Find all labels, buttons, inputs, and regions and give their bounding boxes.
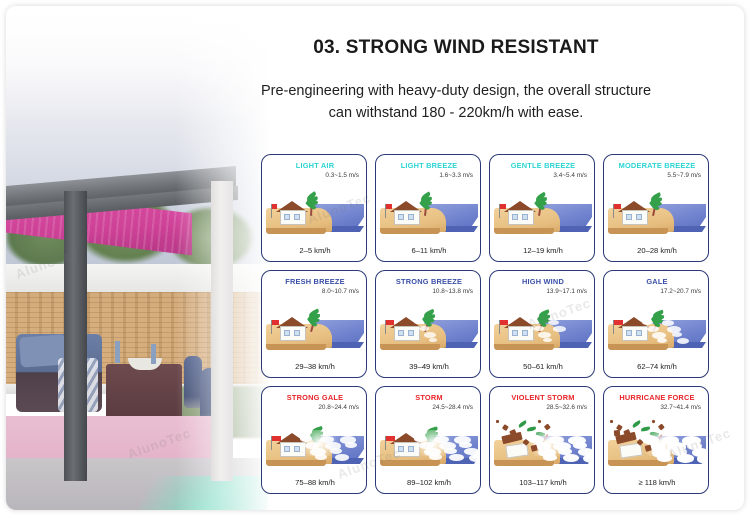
sand-edge xyxy=(380,460,440,466)
flying-debris xyxy=(614,430,621,437)
wind-card-speed-kmh: 75–88 km/h xyxy=(262,478,367,487)
flying-debris xyxy=(631,435,634,438)
wind-card-name: MODERATE BREEZE xyxy=(604,161,709,170)
sand-edge xyxy=(608,344,668,350)
flying-debris xyxy=(610,420,613,423)
wind-card-speed-ms: 3.4~5.4 m/s xyxy=(553,172,587,179)
house-window xyxy=(294,214,300,220)
wind-effect-illustration xyxy=(608,298,706,358)
wind-card-name: VIOLENT STORM xyxy=(490,393,595,402)
page-title: 03. STRONG WIND RESISTANT xyxy=(236,37,676,59)
decor-vase-right xyxy=(151,344,156,364)
pergola-post-dark xyxy=(64,191,87,481)
wind-card-speed-ms: 13.9~17.1 m/s xyxy=(546,288,587,295)
white-wave xyxy=(424,332,436,338)
chimney-smoke xyxy=(397,312,402,320)
wind-card-name: STRONG GALE xyxy=(262,393,367,402)
wind-card: HIGH WIND13.9~17.1 m/s50–61 km/h xyxy=(489,270,595,378)
red-flag xyxy=(500,320,508,325)
wind-card-name: LIGHT BREEZE xyxy=(376,161,481,170)
wind-card: GALE17.2~20.7 m/s62–74 km/h xyxy=(603,270,709,378)
red-flag xyxy=(386,436,395,441)
house-window xyxy=(294,330,300,336)
red-flag xyxy=(386,320,394,325)
flying-leaf xyxy=(632,420,642,428)
red-flag xyxy=(386,204,392,209)
red-flag xyxy=(272,320,279,325)
wind-card-speed-kmh: 12–19 km/h xyxy=(490,246,595,255)
wind-effect-illustration xyxy=(494,298,592,358)
wind-effect-illustration xyxy=(608,182,706,242)
chimney-smoke xyxy=(397,428,402,436)
wind-card-speed-kmh: 6–11 km/h xyxy=(376,246,481,255)
wind-card-speed-ms: 10.8~13.8 m/s xyxy=(432,288,473,295)
chimney-smoke xyxy=(397,196,402,204)
wind-card-speed-kmh: 62–74 km/h xyxy=(604,362,709,371)
wind-card-name: HIGH WIND xyxy=(490,277,595,286)
house-window xyxy=(398,214,404,220)
house-window xyxy=(398,330,404,336)
wind-card-speed-ms: 0.3~1.5 m/s xyxy=(325,172,359,179)
sea-spray xyxy=(638,430,684,456)
sand-edge xyxy=(608,228,668,234)
red-flag xyxy=(272,204,277,209)
white-wave xyxy=(429,338,437,342)
subtitle-line-2: can withstand 180 - 220km/h with ease. xyxy=(156,102,744,124)
wind-card-speed-ms: 20.8~24.4 m/s xyxy=(318,404,359,411)
flying-debris xyxy=(652,420,656,424)
wind-effect-illustration xyxy=(494,414,592,474)
page-subtitle: Pre-engineering with heavy-duty design, … xyxy=(156,80,744,125)
wind-card-speed-ms: 28.5~32.6 m/s xyxy=(546,404,587,411)
chimney-smoke xyxy=(283,196,288,204)
house-window xyxy=(522,330,528,336)
red-flag xyxy=(272,436,281,441)
side-table xyxy=(106,364,182,420)
sand-edge xyxy=(380,344,440,350)
wind-card: STRONG GALE20.8~24.4 m/s75–88 km/h xyxy=(261,386,367,494)
sea-spray xyxy=(524,430,570,456)
house-window xyxy=(626,214,632,220)
wind-effect-illustration xyxy=(494,182,592,242)
house-window xyxy=(636,214,642,220)
white-wave xyxy=(697,454,706,464)
house-window xyxy=(522,214,528,220)
red-flag xyxy=(614,204,621,209)
wind-card-name: GALE xyxy=(604,277,709,286)
chimney-smoke xyxy=(511,196,516,204)
wind-card: VIOLENT STORM28.5~32.6 m/s103–117 km/h xyxy=(489,386,595,494)
wind-card-name: STRONG BREEZE xyxy=(376,277,481,286)
wind-card-speed-ms: 24.5~28.4 m/s xyxy=(432,404,473,411)
house-window xyxy=(284,330,290,336)
house-window xyxy=(408,330,414,336)
wind-card: LIGHT AIR0.3~1.5 m/s2–5 km/h xyxy=(261,154,367,262)
wind-effect-illustration xyxy=(266,414,364,474)
sand-edge xyxy=(266,460,326,466)
wind-effect-illustration xyxy=(380,298,478,358)
flying-debris xyxy=(502,424,508,430)
flying-debris xyxy=(496,420,499,423)
decor-vase-left xyxy=(115,341,120,363)
wind-card-name: STORM xyxy=(376,393,481,402)
sand-edge xyxy=(494,344,554,350)
red-flag xyxy=(614,320,623,325)
wind-scale-grid: LIGHT AIR0.3~1.5 m/s2–5 km/hLIGHT BREEZE… xyxy=(261,154,709,494)
flying-debris xyxy=(517,435,520,438)
chimney-smoke xyxy=(511,312,516,320)
house-window xyxy=(284,446,290,452)
house-window xyxy=(626,330,632,336)
house-window xyxy=(398,446,404,452)
chimney-smoke xyxy=(283,312,288,320)
wind-card-name: LIGHT AIR xyxy=(262,161,367,170)
wind-card-speed-ms: 17.2~20.7 m/s xyxy=(660,288,701,295)
white-wave xyxy=(414,320,422,324)
wind-effect-illustration xyxy=(608,414,706,474)
red-flag xyxy=(500,204,506,209)
white-wave xyxy=(345,442,357,448)
wind-card-name: FRESH BREEZE xyxy=(262,277,367,286)
sea-spray xyxy=(410,430,456,456)
sand-edge xyxy=(266,228,326,234)
wind-effect-illustration xyxy=(266,182,364,242)
house-window xyxy=(408,214,414,220)
house-window xyxy=(284,214,290,220)
wind-card-speed-kmh: 50–61 km/h xyxy=(490,362,595,371)
product-infographic-page: AlunoTec AlunoTec 03. STRONG WIND RESIST… xyxy=(6,6,744,510)
flying-debris xyxy=(538,420,542,424)
wind-card: STORM24.5~28.4 m/s89–102 km/h xyxy=(375,386,481,494)
wind-effect-illustration xyxy=(380,182,478,242)
wind-card-speed-ms: 1.6~3.3 m/s xyxy=(439,172,473,179)
wind-card: FRESH BREEZE8.0~10.7 m/s29–38 km/h xyxy=(261,270,367,378)
wind-effect-illustration xyxy=(380,414,478,474)
house-window xyxy=(636,330,642,336)
house-window xyxy=(512,214,518,220)
sea-spray xyxy=(296,430,342,456)
wind-card-speed-kmh: 89–102 km/h xyxy=(376,478,481,487)
wind-effect-illustration xyxy=(266,298,364,358)
flying-leaf xyxy=(518,420,528,428)
wind-card-speed-kmh: 20–28 km/h xyxy=(604,246,709,255)
white-wave xyxy=(419,326,429,331)
wind-card: MODERATE BREEZE5.5~7.9 m/s20–28 km/h xyxy=(603,154,709,262)
sand-edge xyxy=(494,460,554,466)
wind-card-speed-kmh: ≥ 118 km/h xyxy=(604,478,709,487)
wind-card-name: HURRICANE FORCE xyxy=(604,393,709,402)
sand-edge xyxy=(380,228,440,234)
wind-card-speed-kmh: 103–117 km/h xyxy=(490,478,595,487)
wind-card-name: GENTLE BREEZE xyxy=(490,161,595,170)
wind-card: HURRICANE FORCE32.7~41.4 m/s≥ 118 km/h xyxy=(603,386,709,494)
wind-card-speed-kmh: 39–49 km/h xyxy=(376,362,481,371)
wind-card: STRONG BREEZE10.8~13.8 m/s39–49 km/h xyxy=(375,270,481,378)
sand-edge xyxy=(494,228,554,234)
wind-card-speed-ms: 8.0~10.7 m/s xyxy=(322,288,359,295)
subtitle-line-1: Pre-engineering with heavy-duty design, … xyxy=(156,80,744,102)
sand-edge xyxy=(266,344,326,350)
wind-card-speed-ms: 32.7~41.4 m/s xyxy=(660,404,701,411)
wind-card: LIGHT BREEZE1.6~3.3 m/s6–11 km/h xyxy=(375,154,481,262)
wind-card-speed-ms: 5.5~7.9 m/s xyxy=(667,172,701,179)
wind-card: GENTLE BREEZE3.4~5.4 m/s12–19 km/h xyxy=(489,154,595,262)
house-window xyxy=(512,330,518,336)
wind-card-speed-kmh: 2–5 km/h xyxy=(262,246,367,255)
chimney-smoke xyxy=(625,196,630,204)
wind-card-speed-kmh: 29–38 km/h xyxy=(262,362,367,371)
chimney-smoke xyxy=(283,428,288,436)
chimney-smoke xyxy=(625,312,630,320)
